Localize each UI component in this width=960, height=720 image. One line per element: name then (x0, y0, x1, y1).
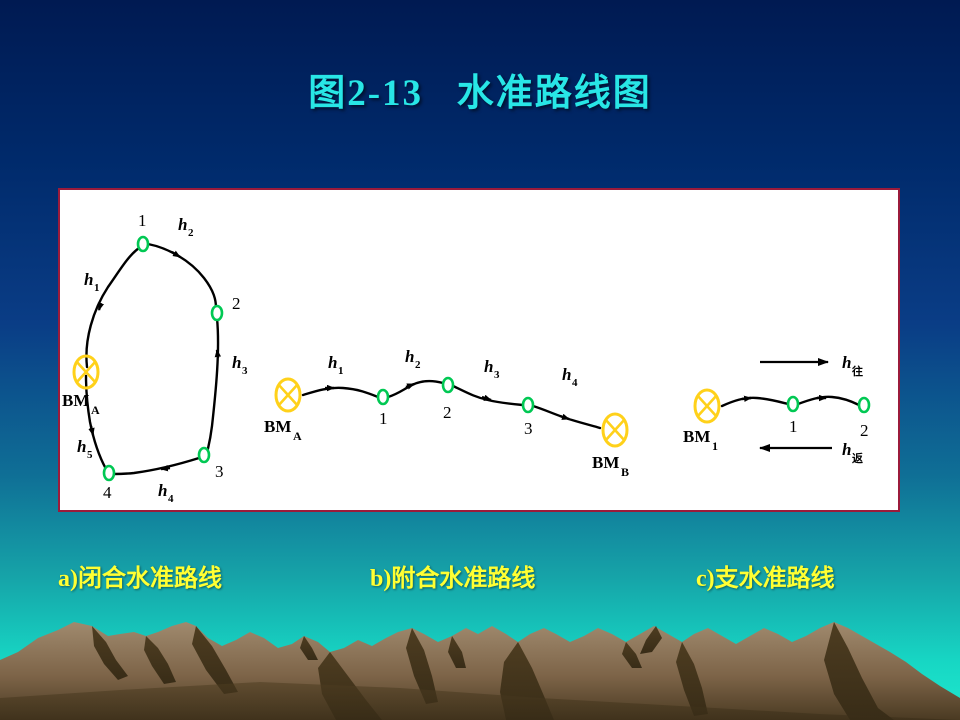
arrow-c-seg1 (742, 398, 751, 399)
arrow-h3 (217, 350, 218, 358)
station-label-b1: 1 (379, 409, 388, 428)
segment-label-h4: h (158, 481, 167, 500)
segment-sublabel-b-h3: 3 (494, 369, 500, 381)
benchmark-label-bm-b: BM (592, 453, 619, 472)
station-node-b3 (523, 398, 533, 412)
station-node-b1 (378, 390, 388, 404)
benchmark-label-bm-1: BM (683, 427, 710, 446)
arrow-h4 (161, 468, 170, 469)
segment-sublabel-h1: 1 (94, 282, 100, 294)
segment-sublabel-b-h1: 1 (338, 365, 344, 377)
arrow-h2 (172, 252, 180, 257)
mountain-silhouette (0, 590, 960, 720)
segment-label-return: h (842, 440, 851, 459)
station-label-3: 3 (215, 462, 224, 481)
segment-label-b-h4: h (562, 365, 571, 384)
benchmark-label-bm-a: BM (62, 391, 89, 410)
segment-label-b-h3: h (484, 357, 493, 376)
segment-label-b-h2: h (405, 347, 414, 366)
diagram-closed-loop: BM A 1 2 3 4 h 1 h 2 h (62, 211, 248, 505)
segment-label-h5: h (77, 437, 86, 456)
slide-canvas: 图2-13 水准路线图 (0, 0, 960, 720)
station-node-c2 (859, 398, 869, 412)
segment-sublabel-h5: 5 (87, 449, 93, 461)
segment-label-h3: h (232, 353, 241, 372)
benchmark-label-bm-a-attached: BM (264, 417, 291, 436)
segment-sublabel-b-h4: 4 (572, 377, 578, 389)
station-label-b2: 2 (443, 403, 452, 422)
arrow-b-h2 (406, 384, 414, 387)
segment-label-h1: h (84, 270, 93, 289)
benchmark-sublabel-bm-1: 1 (712, 439, 718, 453)
benchmark-bm-1 (695, 390, 719, 422)
segment-label-h2: h (178, 215, 187, 234)
station-node-3 (199, 448, 209, 462)
station-label-c2: 2 (860, 421, 869, 440)
segment-sublabel-return: 返 (852, 451, 863, 465)
benchmark-sublabel-bm-a: A (91, 403, 100, 417)
page-title: 图2-13 水准路线图 (0, 62, 960, 116)
segment-sublabel-h3: 3 (242, 365, 248, 377)
station-node-c1 (788, 397, 798, 411)
segment-sublabel-b-h2: 2 (415, 359, 421, 371)
caption-spur-route: c)支水准路线 (696, 558, 835, 593)
station-label-c1: 1 (789, 417, 798, 436)
caption-closed-route: a)闭合水准路线 (58, 558, 222, 593)
arrow-h5 (91, 426, 93, 435)
segment-sublabel-forward: 往 (852, 364, 863, 378)
station-label-1: 1 (138, 211, 147, 230)
benchmark-bm-b-attached (603, 414, 627, 446)
station-label-b3: 3 (524, 419, 533, 438)
caption-attached-route: b)附合水准路线 (370, 558, 535, 593)
station-node-2 (212, 306, 222, 320)
station-node-4 (104, 466, 114, 480)
station-node-1 (138, 237, 148, 251)
segment-sublabel-h4: 4 (168, 493, 174, 505)
benchmark-sublabel-bm-b: B (621, 465, 629, 479)
diagram-panel: BM A 1 2 3 4 h 1 h 2 h (58, 188, 900, 512)
station-label-4: 4 (103, 483, 112, 502)
segment-label-forward: h (842, 353, 851, 372)
segment-label-b-h1: h (328, 353, 337, 372)
station-label-2: 2 (232, 294, 241, 313)
diagram-spur-line: h 往 BM 1 (683, 353, 869, 465)
benchmark-sublabel-bm-a-attached: A (293, 429, 302, 443)
leveling-diagrams-svg: BM A 1 2 3 4 h 1 h 2 h (60, 190, 898, 510)
diagram-captions: a)闭合水准路线 b)附合水准路线 c)支水准路线 (0, 558, 960, 594)
segment-sublabel-h2: 2 (188, 227, 194, 239)
diagram-attached-line: BM A BM B 1 2 3 h 1 (264, 347, 629, 479)
benchmark-bm-a-attached (276, 379, 300, 411)
arrow-b-h4 (560, 416, 569, 419)
station-node-b2 (443, 378, 453, 392)
